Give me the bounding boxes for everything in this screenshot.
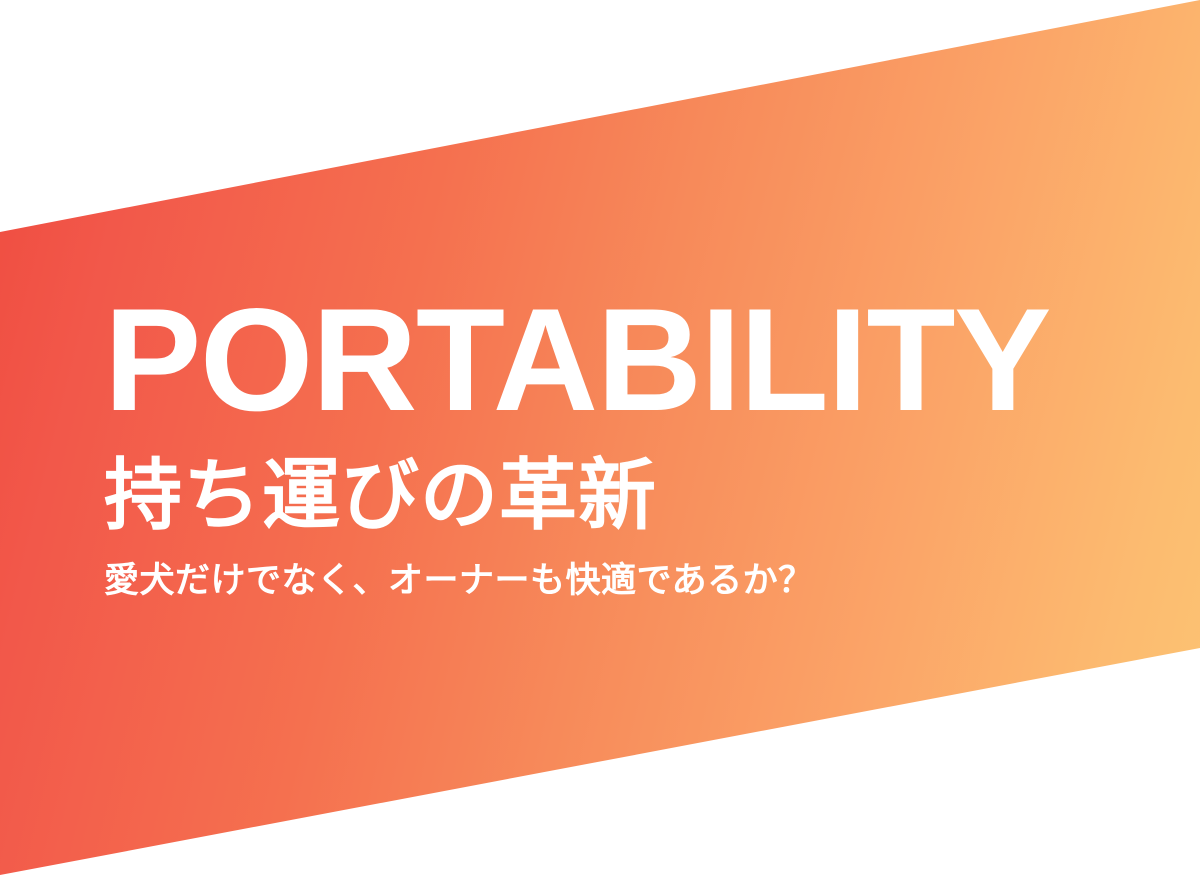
slide-canvas: PORTABILITY 持ち運びの革新 愛犬だけでなく、オーナーも快適であるか？ xyxy=(0,0,1200,888)
subheadline-japanese: 愛犬だけでなく、オーナーも快適であるか？ xyxy=(104,538,1144,604)
headline-block: PORTABILITY 持ち運びの革新 愛犬だけでなく、オーナーも快適であるか？ xyxy=(104,288,1144,604)
headline-japanese: 持ち運びの革新 xyxy=(104,431,1144,538)
headline-english: PORTABILITY xyxy=(104,288,1144,431)
